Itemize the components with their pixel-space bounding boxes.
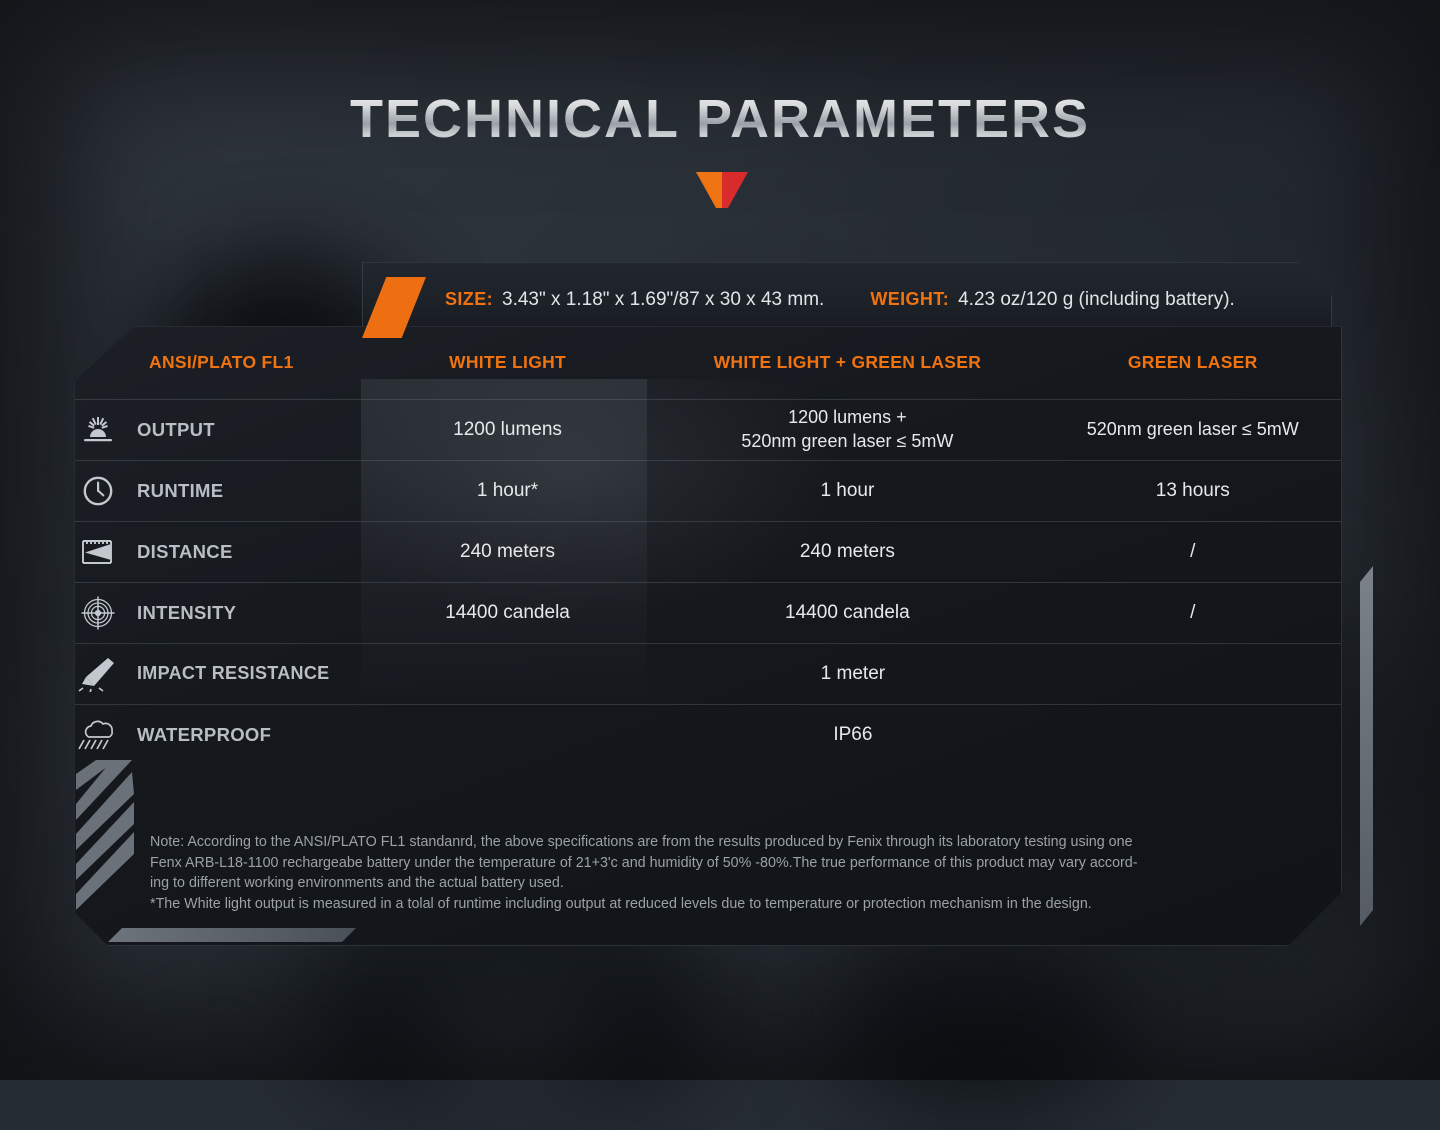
cell-runtime-white-light: 1 hour* [365,460,650,521]
cell-distance-green-laser: / [1045,521,1342,582]
cell-impact-resistance-value: 1 meter [365,643,1341,704]
beam-distance-icon [75,532,121,572]
row-label-distance: DISTANCE [137,541,233,563]
table-row: DISTANCE 240 meters 240 meters / [75,521,1341,582]
table-row: INTENSITY 14400 candela 14400 candela / [75,582,1341,643]
column-header-green-laser: GREEN LASER [1045,327,1342,399]
footnote-line: *The White light output is measured in a… [150,894,1310,915]
row-label-waterproof: WATERPROOF [137,724,271,746]
spec-table: ANSI/PLATO FL1 WHITE LIGHT WHITE LIGHT +… [75,327,1341,765]
cell-distance-white-light-green-laser: 240 meters [650,521,1044,582]
footnote-line: Fenx ARB-L18-1100 rechargeabe battery un… [150,853,1310,874]
hash-stripes-decoration [76,760,134,920]
table-row: IMPACT RESISTANCE 1 meter [75,643,1341,704]
rain-cloud-icon [75,715,121,755]
bottom-left-accent-bar [108,928,356,942]
cell-output-green-laser: 520nm green laser ≤ 5mW [1045,399,1342,460]
footnote-line: Note: According to the ANSI/PLATO FL1 st… [150,832,1310,853]
sunburst-icon [75,410,121,450]
table-row: OUTPUT 1200 lumens 1200 lumens +520nm gr… [75,399,1341,460]
cell-runtime-green-laser: 13 hours [1045,460,1342,521]
row-label-runtime: RUNTIME [137,480,223,502]
cell-output-white-light-green-laser: 1200 lumens +520nm green laser ≤ 5mW [650,399,1044,460]
chevron-down-icon [696,172,748,208]
table-row: RUNTIME 1 hour* 1 hour 13 hours [75,460,1341,521]
cell-intensity-white-light: 14400 candela [365,582,650,643]
cell-distance-white-light: 240 meters [365,521,650,582]
cell-waterproof-value: IP66 [365,704,1341,765]
weight-label: WEIGHT: [870,289,949,310]
row-label-impact-resistance: IMPACT RESISTANCE [137,663,329,684]
size-value: 3.43" x 1.18" x 1.69"/87 x 30 x 43 mm. [502,289,824,311]
table-header-row: ANSI/PLATO FL1 WHITE LIGHT WHITE LIGHT +… [75,327,1341,399]
cell-runtime-white-light-green-laser: 1 hour [650,460,1044,521]
cell-intensity-green-laser: / [1045,582,1342,643]
footnote-line: ing to different working environments an… [150,873,1310,894]
row-label-output: OUTPUT [137,419,215,441]
cell-intensity-white-light-green-laser: 14400 candela [650,582,1044,643]
table-row: WATERPROOF IP66 [75,704,1341,765]
size-label: SIZE: [445,289,493,310]
impact-arrow-icon [75,654,121,694]
column-header-white-light-green-laser: WHITE LIGHT + GREEN LASER [650,327,1044,399]
target-intensity-icon [75,593,121,633]
right-edge-accent-bar [1360,566,1373,926]
clock-icon [75,471,121,511]
row-label-intensity: INTENSITY [137,602,236,624]
column-header-white-light: WHITE LIGHT [365,327,650,399]
footnote: Note: According to the ANSI/PLATO FL1 st… [150,832,1310,914]
weight-value: 4.23 oz/120 g (including battery). [958,289,1235,311]
page-title: TECHNICAL PARAMETERS [0,88,1440,150]
cell-output-white-light: 1200 lumens [365,399,650,460]
